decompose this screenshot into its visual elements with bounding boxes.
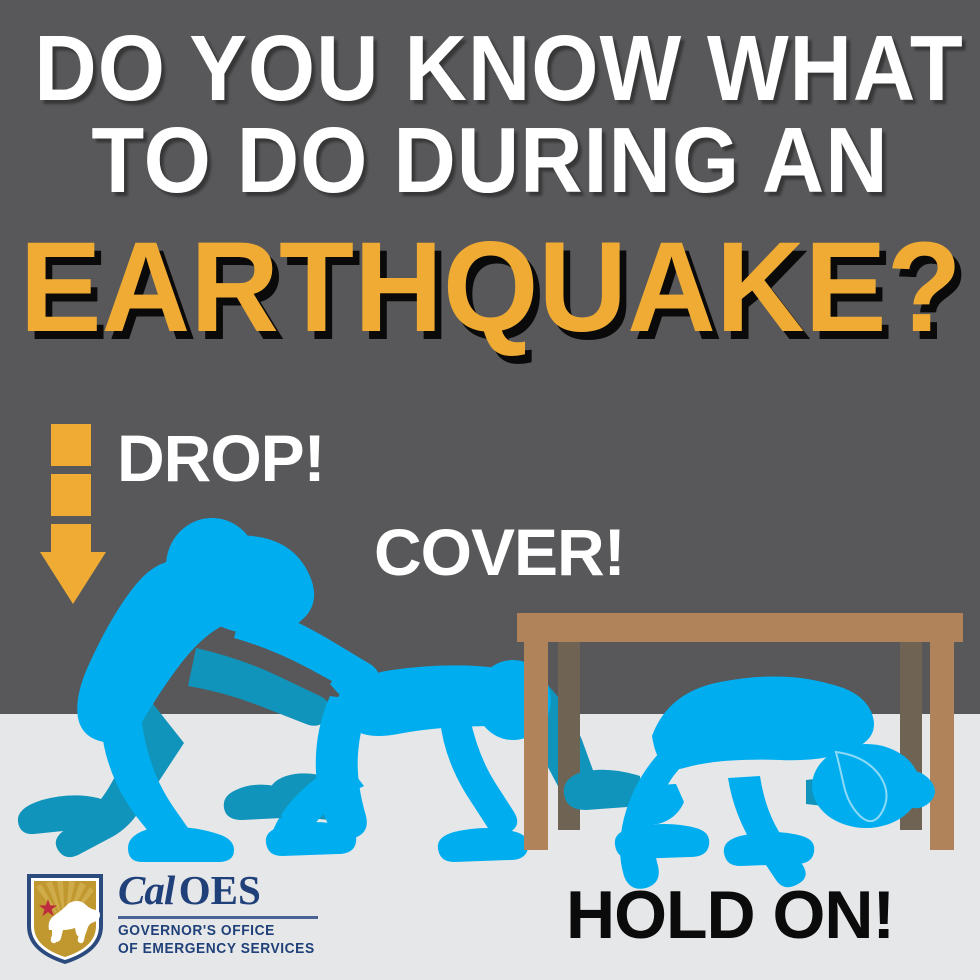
logo-tagline: GOVERNOR'S OFFICE OF EMERGENCY SERVICES: [118, 923, 322, 958]
logo-tagline-line-1: GOVERNOR'S OFFICE: [118, 923, 322, 941]
illustration-scene: [0, 0, 980, 980]
logo-oes-text: OES: [179, 867, 261, 913]
person-under-table-icon: [564, 676, 935, 888]
cal-oes-logo: Cal OES GOVERNOR'S OFFICE OF EMERGENCY S…: [22, 868, 322, 968]
earthquake-safety-poster: DO YOU KNOW WHAT TO DO DURING AN EARTHQU…: [0, 0, 980, 980]
logo-tagline-line-2: OF EMERGENCY SERVICES: [118, 941, 322, 959]
logo-divider: [118, 916, 318, 919]
logo-cal-text: Cal: [118, 867, 174, 913]
logo-wordmark: Cal OES: [118, 870, 328, 911]
california-bear-shield-icon: [22, 868, 108, 968]
